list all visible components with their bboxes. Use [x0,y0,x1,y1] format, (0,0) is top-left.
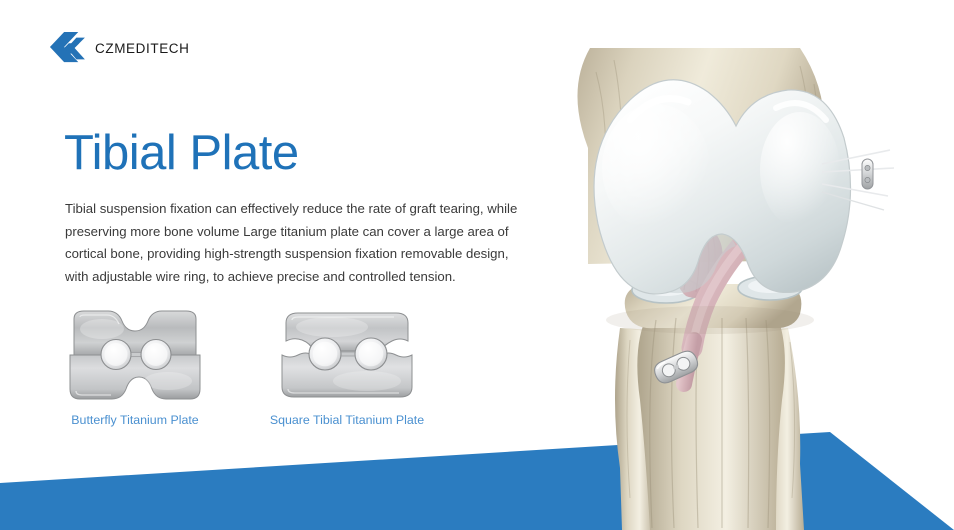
product-caption-square: Square Tibial Titanium Plate [270,413,424,427]
product-item-butterfly: Butterfly Titanium Plate [55,305,215,427]
knee-joint-acl-graft-illustration [470,28,954,530]
description-paragraph: Tibial suspension fixation can effective… [65,198,535,289]
product-gallery: Butterfly Titanium Plate [55,305,427,427]
czmeditech-chevron-logo-icon [47,31,85,65]
product-caption-butterfly: Butterfly Titanium Plate [71,413,198,427]
brand-wordmark: CZMEDITECH [95,41,190,56]
butterfly-titanium-plate-photo [60,305,210,405]
product-item-square: Square Tibial Titanium Plate [267,305,427,427]
page-title: Tibial Plate [64,128,299,179]
square-tibial-titanium-plate-photo [272,305,422,405]
poster-canvas: CZMEDITECH Tibial Plate Tibial suspensio… [0,0,954,530]
brand-logo: CZMEDITECH [47,31,190,65]
